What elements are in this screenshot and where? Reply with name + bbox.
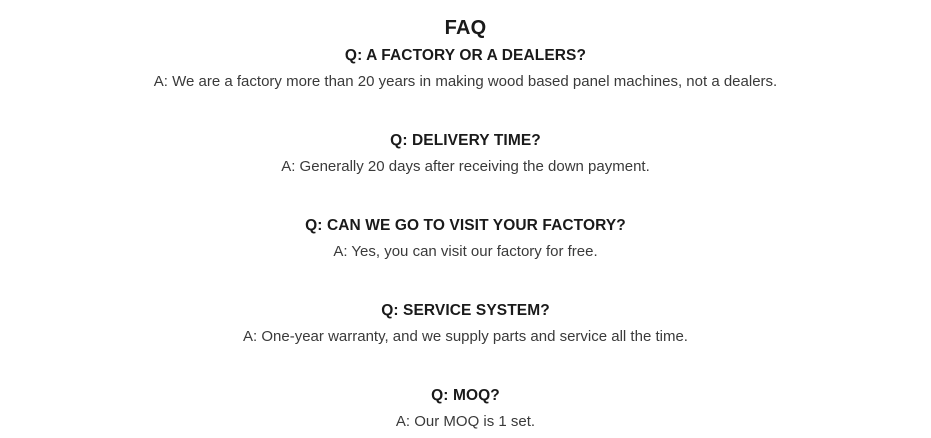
faq-question: Q: MOQ? [0, 382, 931, 409]
faq-answer: A: One-year warranty, and we supply part… [0, 324, 931, 350]
faq-question: Q: CAN WE GO TO VISIT YOUR FACTORY? [0, 212, 931, 239]
faq-entry: Q: DELIVERY TIME? A: Generally 20 days a… [0, 127, 931, 180]
faq-question: Q: SERVICE SYSTEM? [0, 297, 931, 324]
faq-answer: A: We are a factory more than 20 years i… [0, 69, 931, 95]
faq-question: Q: A FACTORY OR A DEALERS? [0, 42, 931, 69]
faq-entry: Q: SERVICE SYSTEM? A: One-year warranty,… [0, 297, 931, 350]
faq-answer: A: Our MOQ is 1 set. [0, 409, 931, 435]
faq-entry: Q: A FACTORY OR A DEALERS? A: We are a f… [0, 42, 931, 95]
faq-entry: Q: CAN WE GO TO VISIT YOUR FACTORY? A: Y… [0, 212, 931, 265]
faq-answer: A: Yes, you can visit our factory for fr… [0, 239, 931, 265]
faq-question: Q: DELIVERY TIME? [0, 127, 931, 154]
page-title: FAQ [0, 14, 931, 42]
faq-page: FAQ Q: A FACTORY OR A DEALERS? A: We are… [0, 0, 931, 438]
faq-answer: A: Generally 20 days after receiving the… [0, 154, 931, 180]
faq-entry: Q: MOQ? A: Our MOQ is 1 set. [0, 382, 931, 435]
